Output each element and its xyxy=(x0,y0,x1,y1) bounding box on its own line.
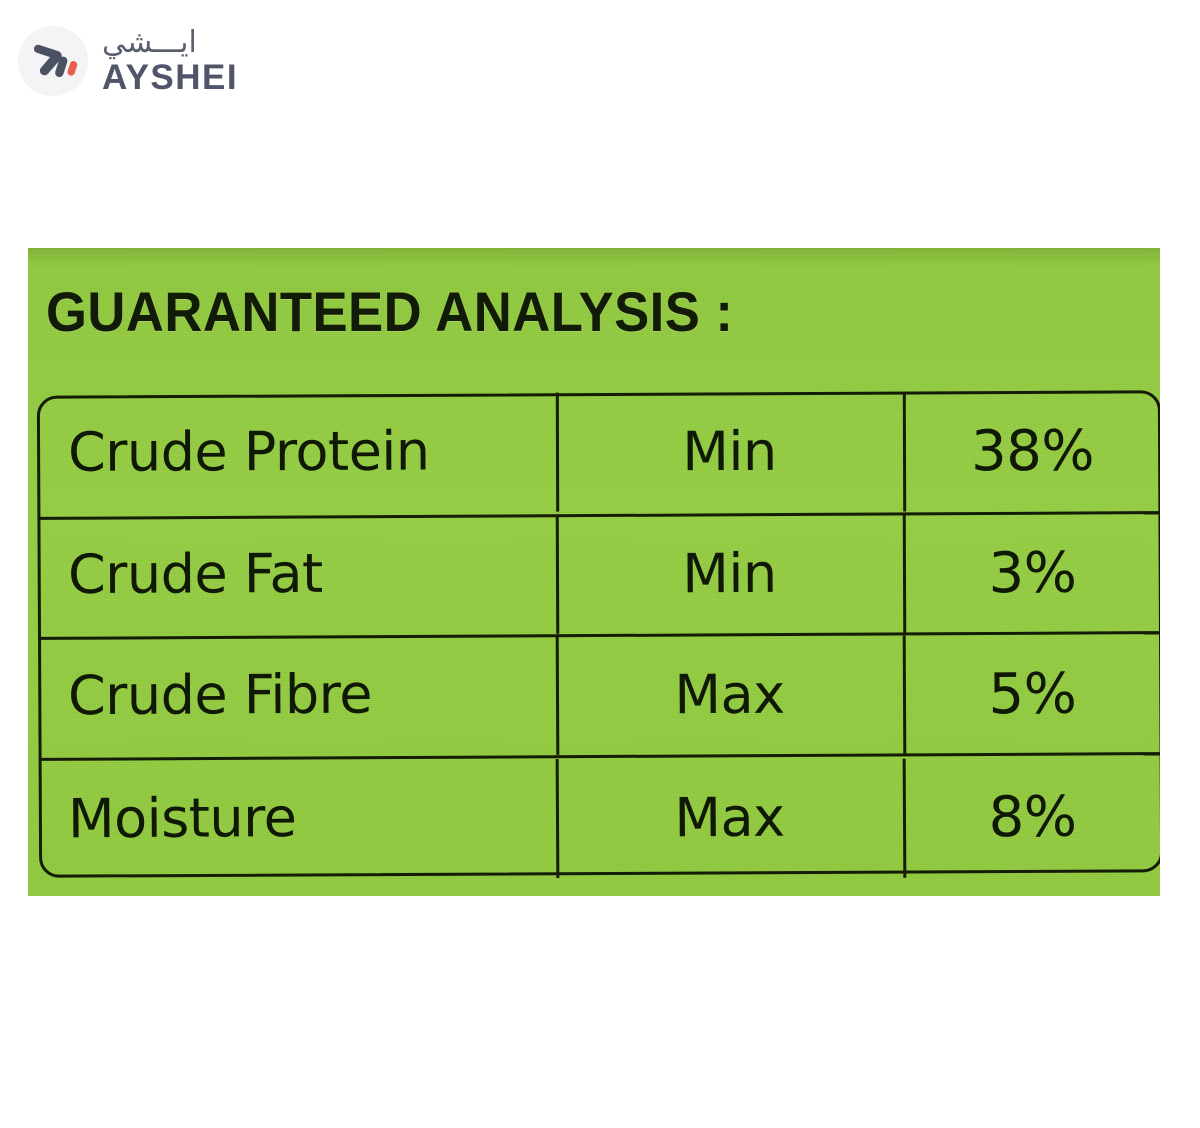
brand-wordmark: ايـــشي AYSHEI xyxy=(102,28,238,95)
guaranteed-analysis-title: GUARANTEED ANALYSIS : xyxy=(46,284,733,340)
brand-name-latin: AYSHEI xyxy=(102,60,238,95)
table-row: Crude Fat Min 3% xyxy=(38,514,1160,635)
nutrient-name-cell: Crude Protein xyxy=(38,390,556,512)
nutrient-value-cell: 8% xyxy=(903,756,1160,878)
guaranteed-analysis-panel: GUARANTEED ANALYSIS : Crude Protein Min … xyxy=(28,248,1160,896)
table-row: Crude Protein Min 38% xyxy=(38,393,1160,514)
table-row: Crude Fibre Max 5% xyxy=(38,634,1160,755)
nutrient-value-cell: 3% xyxy=(903,512,1160,634)
product-label-page: ايـــشي AYSHEI GUARANTEED ANALYSIS : Cru… xyxy=(0,0,1200,1128)
nutrient-limit-cell: Min xyxy=(556,512,904,634)
nutrient-limit-cell: Max xyxy=(556,633,904,755)
nutrient-limit-cell: Min xyxy=(556,390,903,512)
nutrient-name-cell: Moisture xyxy=(38,755,557,879)
table-row: Moisture Max 8% xyxy=(38,755,1160,876)
brand-name-arabic: ايـــشي xyxy=(102,28,197,58)
nutrient-value-cell: 38% xyxy=(903,391,1160,512)
nutrient-limit-cell: Max xyxy=(556,755,904,878)
ayshei-logo-mark-icon xyxy=(18,26,88,96)
nutrient-name-cell: Crude Fibre xyxy=(38,633,557,756)
nutrient-name-cell: Crude Fat xyxy=(38,511,557,634)
guaranteed-analysis-table: Crude Protein Min 38% Crude Fat Min 3% C… xyxy=(38,393,1160,875)
nutrient-value-cell: 5% xyxy=(903,633,1160,755)
brand-header: ايـــشي AYSHEI xyxy=(18,26,238,96)
